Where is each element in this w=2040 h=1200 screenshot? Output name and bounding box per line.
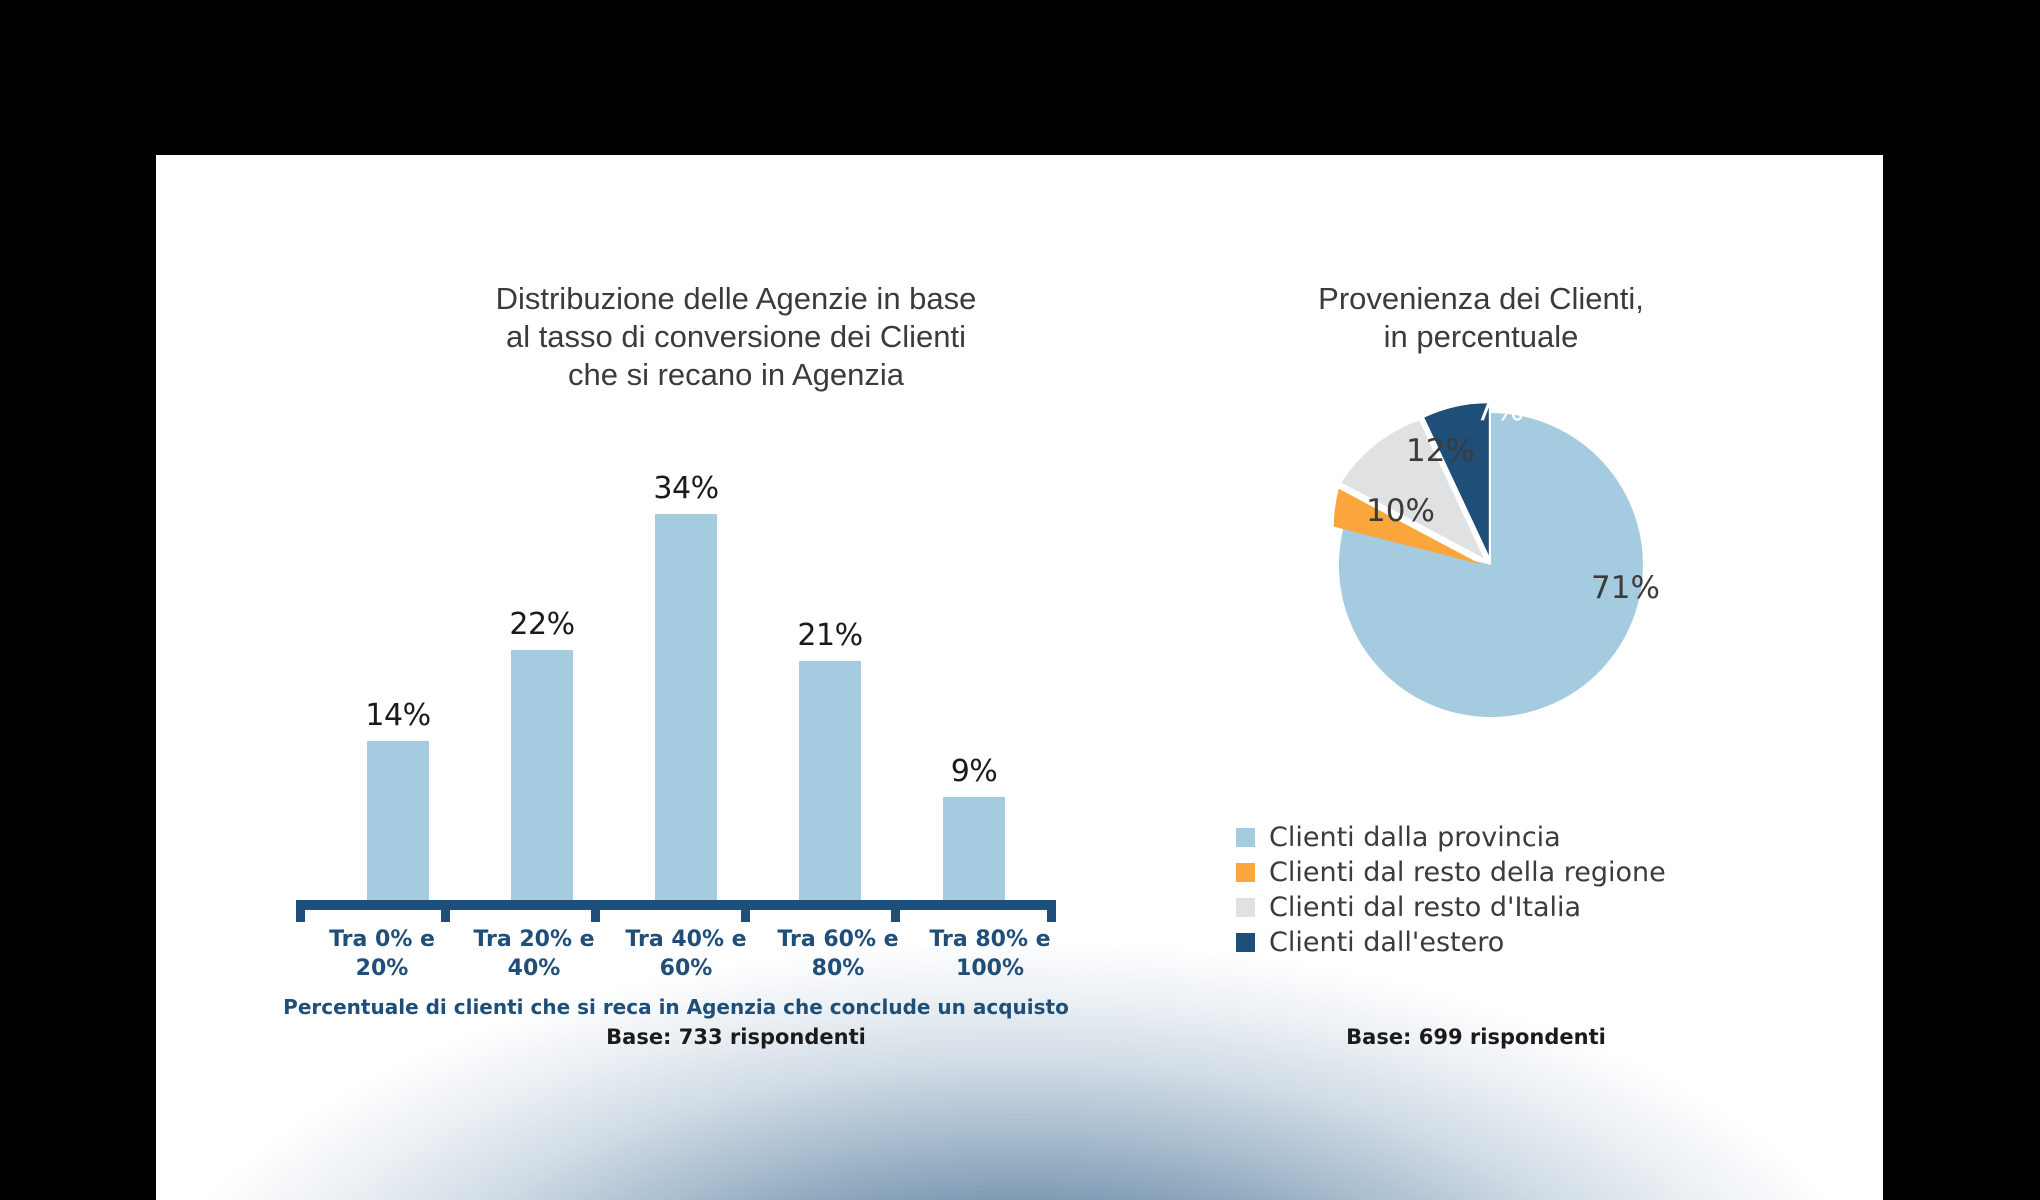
axis-tick [591,910,600,922]
bar-rect[interactable] [943,797,1005,900]
bar-rect[interactable] [655,514,717,900]
bar-value-label: 34% [653,471,718,506]
axis-tick [741,910,750,922]
legend-item-clienti-dal-resto-della-regione[interactable]: Clienti dal resto della regione [1236,855,1796,890]
bar-value-label: 9% [951,754,998,789]
bar-value-label: 21% [797,618,862,653]
legend-item-clienti-dalla-provincia[interactable]: Clienti dalla provincia [1236,820,1796,855]
bar-value-label: 22% [509,607,574,642]
bar-chart-axis-caption: Percentuale di clienti che si reca in Ag… [276,995,1076,1019]
legend-label: Clienti dall'estero [1269,928,1504,958]
legend-label: Clienti dal resto della regione [1269,858,1666,888]
axis-tick [296,910,305,922]
legend-label: Clienti dalla provincia [1269,823,1561,853]
bar-rect[interactable] [799,661,861,900]
legend-swatch-icon [1236,933,1255,952]
pie-value-label-italia: 12% [1406,433,1475,469]
pie-value-label-regione: 10% [1366,493,1435,529]
bar-value-label: 14% [365,698,430,733]
pie-chart-base-note: Base: 699 rispondenti [1156,1025,1796,1049]
category-label: Tra 0% e 20% [306,925,458,983]
bar-rect[interactable] [367,741,429,900]
bar-series: 14% 22% 34% 21% 9% [326,400,1046,900]
category-label: Tra 80% e 100% [914,925,1066,983]
pie-chart-legend: Clienti dalla provincia Clienti dal rest… [1236,820,1796,960]
bar-chart-base-note: Base: 733 rispondenti [376,1025,1096,1049]
category-label: Tra 60% e 80% [762,925,914,983]
legend-item-clienti-dallestero[interactable]: Clienti dall'estero [1236,925,1796,960]
legend-item-clienti-dal-resto-ditalia[interactable]: Clienti dal resto d'Italia [1236,890,1796,925]
pie-value-label-provincia: 71% [1591,570,1660,606]
bar-item[interactable]: 14% [326,400,470,900]
slide-canvas: Distribuzione delle Agenzie in base al t… [156,155,1883,1200]
axis-tick [891,910,900,922]
category-label: Tra 20% e 40% [458,925,610,983]
legend-swatch-icon [1236,828,1255,847]
legend-label: Clienti dal resto d'Italia [1269,893,1581,923]
legend-swatch-icon [1236,863,1255,882]
pie-value-label-estero: 7% [1475,392,1524,428]
bar-chart-title: Distribuzione delle Agenzie in base al t… [366,280,1106,394]
legend-swatch-icon [1236,898,1255,917]
bar-item[interactable]: 9% [902,400,1046,900]
slide-content: Distribuzione delle Agenzie in base al t… [156,155,1883,1200]
axis-tick [441,910,450,922]
bar-rect[interactable] [511,650,573,900]
bar-chart-axis-ticks [296,910,1056,922]
bar-item[interactable]: 34% [614,400,758,900]
bar-chart-plot-area: 14% 22% 34% 21% 9% [296,400,1056,900]
pie-chart-title: Provenienza dei Clienti, in percentuale [1166,280,1796,356]
axis-tick [1047,910,1056,922]
category-label: Tra 40% e 60% [610,925,762,983]
pie-chart-plot-area: 71% 10% 12% 7% [1166,365,1796,765]
bar-chart-x-axis [296,900,1056,910]
bar-item[interactable]: 21% [758,400,902,900]
bar-item[interactable]: 22% [470,400,614,900]
bar-chart-category-labels: Tra 0% e 20% Tra 20% e 40% Tra 40% e 60%… [306,925,1066,983]
